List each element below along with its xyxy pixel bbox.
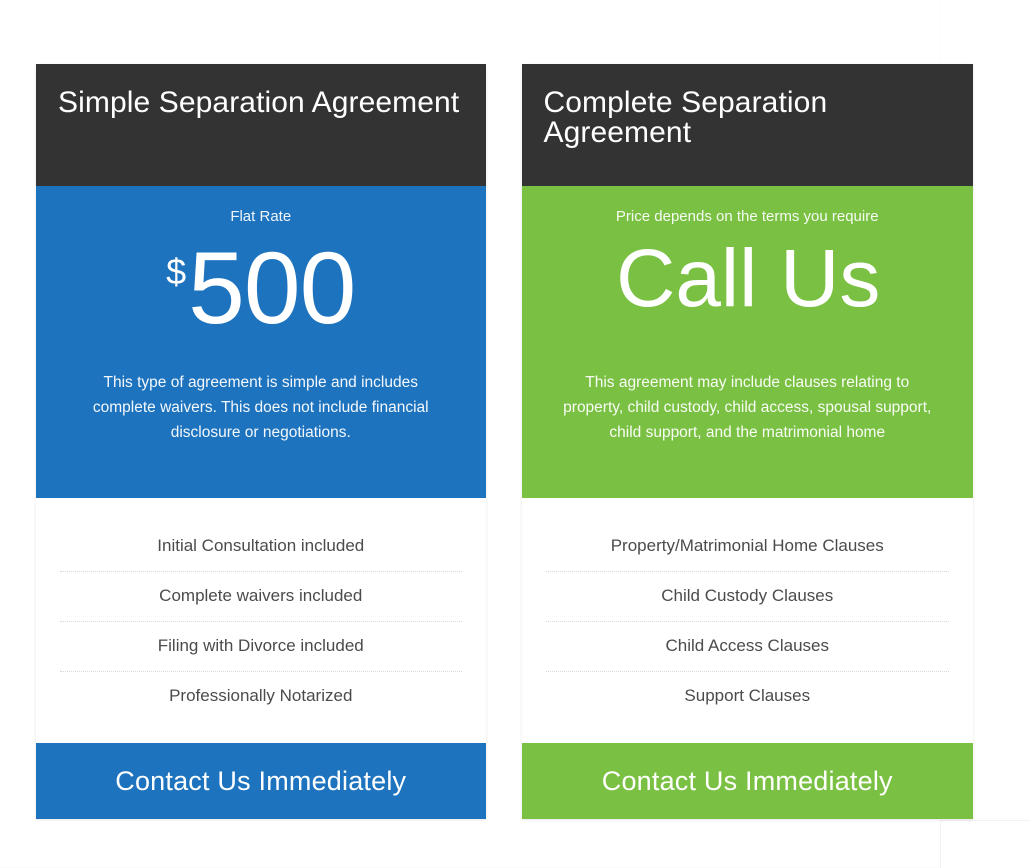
card-price-panel: Price depends on the terms you require C…: [522, 186, 974, 498]
contact-us-button[interactable]: Contact Us Immediately: [522, 743, 974, 819]
feature-item: Child Access Clauses: [546, 622, 950, 672]
price-label: Flat Rate: [60, 208, 462, 226]
price-description: This agreement may include clauses relat…: [546, 370, 950, 445]
card-feature-list: Initial Consultation included Complete w…: [36, 498, 486, 743]
currency-symbol: $: [166, 254, 186, 290]
card-price-panel: Flat Rate $ 500 This type of agreement i…: [36, 186, 486, 498]
price-amount: 500: [188, 240, 355, 337]
feature-item: Initial Consultation included: [60, 522, 462, 572]
pricing-table: Simple Separation Agreement Flat Rate $ …: [36, 64, 973, 819]
feature-item: Property/Matrimonial Home Clauses: [546, 522, 950, 572]
card-title: Simple Separation Agreement: [58, 88, 464, 118]
card-header: Complete Separation Agreement: [522, 64, 974, 186]
contact-us-button[interactable]: Contact Us Immediately: [36, 743, 486, 819]
pricing-card-complete-separation-agreement: Complete Separation Agreement Price depe…: [522, 64, 974, 819]
price-amount-row: $ 500: [60, 240, 462, 360]
price-label: Price depends on the terms you require: [546, 208, 950, 226]
feature-item: Support Clauses: [546, 672, 950, 721]
feature-item: Complete waivers included: [60, 572, 462, 622]
feature-item: Professionally Notarized: [60, 672, 462, 721]
feature-item: Filing with Divorce included: [60, 622, 462, 672]
price-amount-row: Call Us: [546, 240, 950, 360]
card-header: Simple Separation Agreement: [36, 64, 486, 186]
page-panel-edge: [940, 820, 1030, 868]
price-amount: Call Us: [616, 240, 880, 318]
card-title: Complete Separation Agreement: [544, 88, 952, 148]
card-feature-list: Property/Matrimonial Home Clauses Child …: [522, 498, 974, 743]
pricing-card-simple-separation-agreement: Simple Separation Agreement Flat Rate $ …: [36, 64, 486, 819]
feature-item: Child Custody Clauses: [546, 572, 950, 622]
price-description: This type of agreement is simple and inc…: [60, 370, 462, 445]
